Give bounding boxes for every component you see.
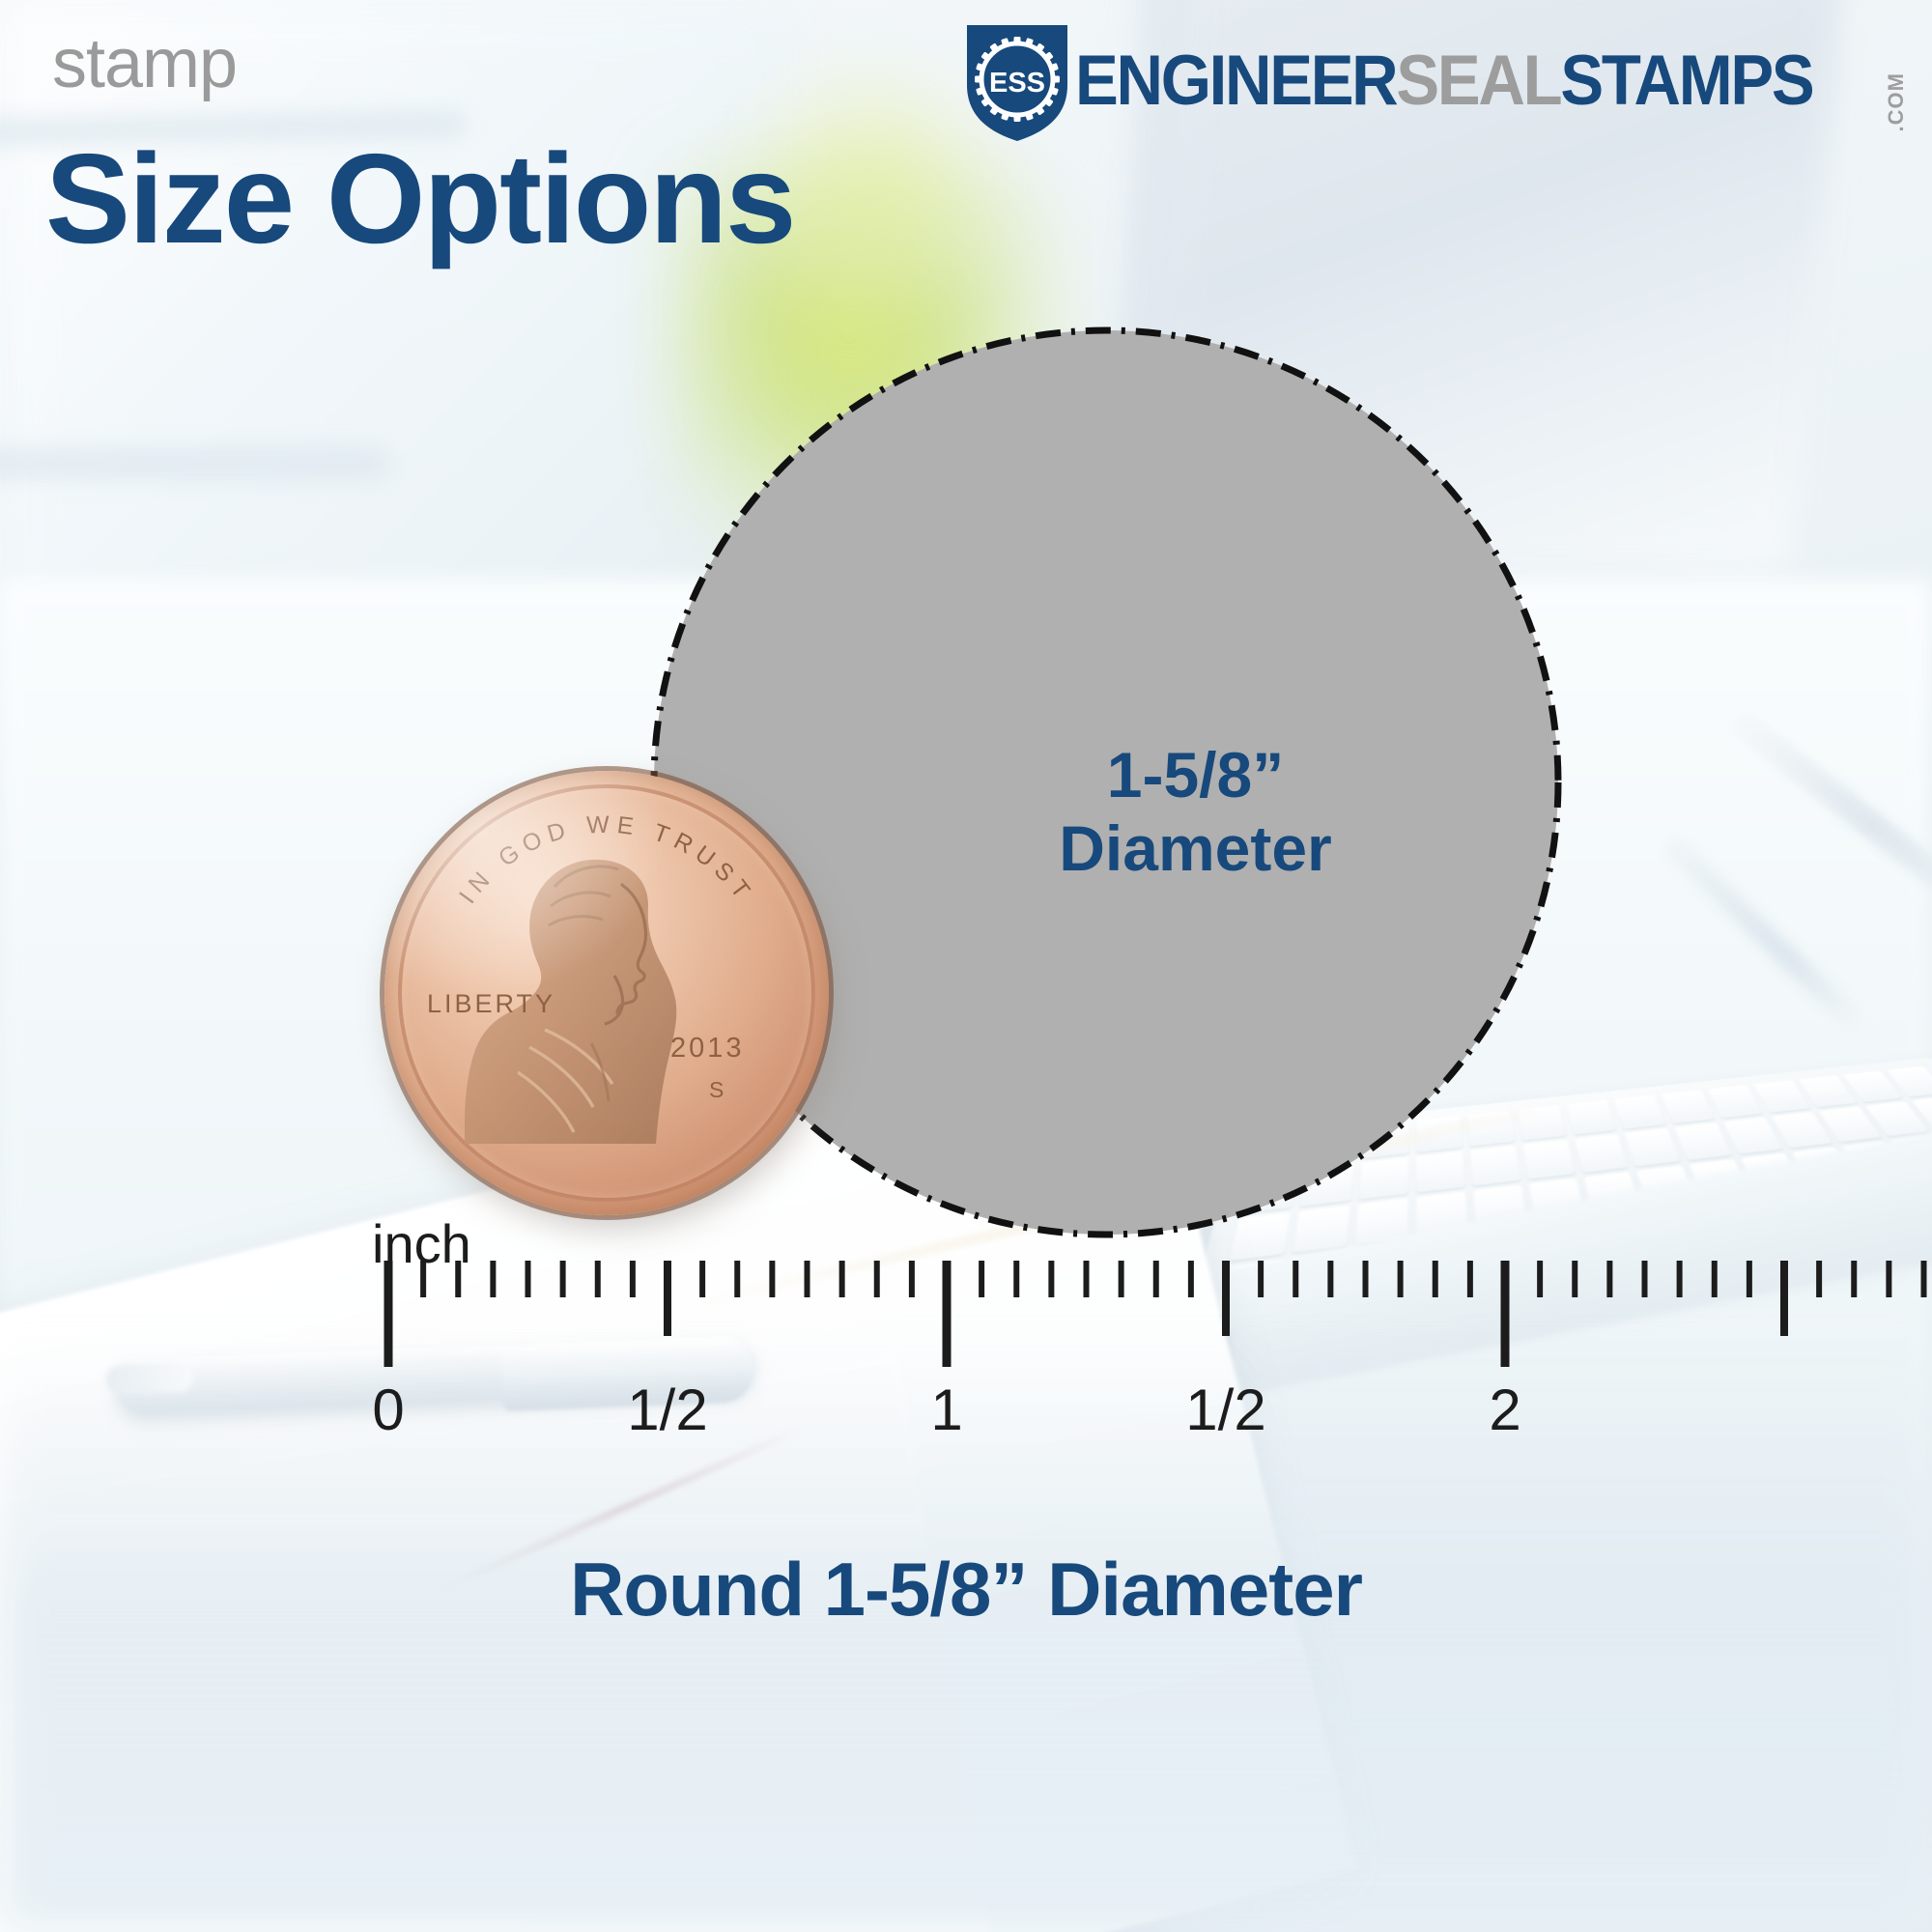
background-window-sill bbox=[0, 454, 386, 473]
ruler-unit-label: inch bbox=[372, 1212, 471, 1275]
inch-ruler bbox=[0, 1188, 1932, 1478]
ruler-tick-label: 1/2 bbox=[627, 1377, 707, 1443]
logo-word-stamps: STAMPS bbox=[1561, 45, 1813, 116]
ess-shield-gear-icon: ESS bbox=[963, 19, 1071, 141]
ruler-tick-label: 1 bbox=[930, 1377, 962, 1443]
ruler-tick-label: 2 bbox=[1489, 1377, 1520, 1443]
ruler-tick-label: 1/2 bbox=[1185, 1377, 1265, 1443]
penny-scale-reference: IN GOD WE TRUST LIBERTY 2013 S bbox=[384, 771, 829, 1215]
size-options-graphic: stamp Size Options bbox=[0, 0, 1932, 1932]
size-caption: Round 1-5/8” Diameter bbox=[0, 1546, 1932, 1634]
logo-dotcom-suffix: .COM bbox=[1884, 72, 1909, 131]
logo-wordmark: ENGINEERSEALSTAMPS bbox=[1075, 45, 1812, 116]
svg-text:2013: 2013 bbox=[670, 1033, 745, 1064]
svg-text:LIBERTY: LIBERTY bbox=[427, 989, 555, 1018]
logo-word-engineer: ENGINEER bbox=[1075, 45, 1396, 116]
page-eyebrow: stamp bbox=[52, 29, 237, 99]
ruler-tick-label: 0 bbox=[372, 1377, 404, 1443]
svg-text:ESS: ESS bbox=[989, 68, 1045, 99]
svg-text:S: S bbox=[709, 1077, 724, 1102]
page-title: Size Options bbox=[45, 135, 794, 263]
brand-logo[interactable]: ESS ENGINEERSEALSTAMPS .COM bbox=[963, 23, 1909, 137]
logo-word-seal: SEAL bbox=[1397, 45, 1561, 116]
